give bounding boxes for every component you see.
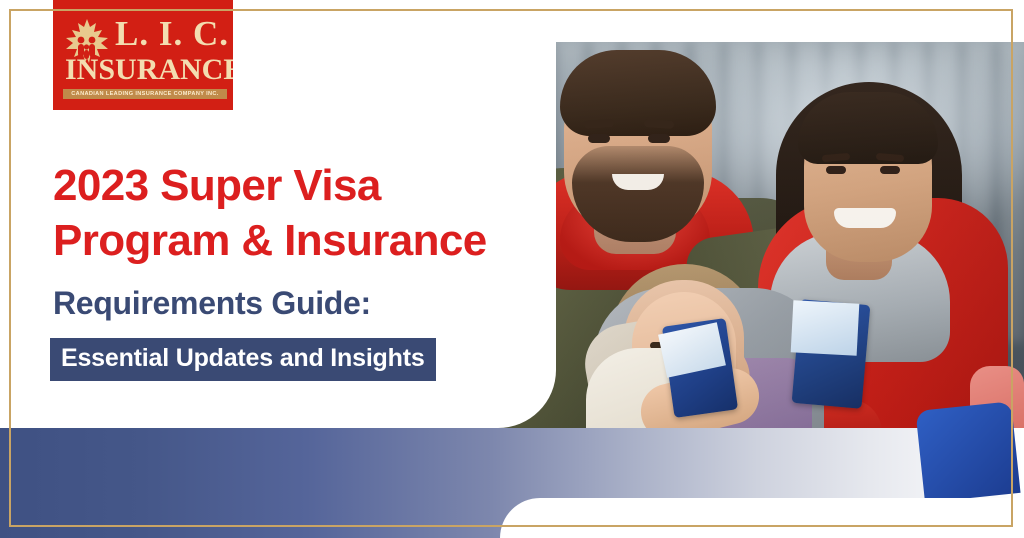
- super-visa-hero-banner: L. I. C. INSURANCE CANADIAN LEADING INSU…: [0, 0, 1024, 538]
- woman-eye-right: [880, 166, 900, 174]
- headline-line-2: Program & Insurance: [53, 213, 573, 268]
- logo-word: INSURANCE: [65, 55, 225, 85]
- subheadline: Requirements Guide:: [53, 285, 371, 322]
- lic-insurance-logo[interactable]: L. I. C. INSURANCE CANADIAN LEADING INSU…: [53, 0, 233, 110]
- man-eye-left: [588, 134, 610, 143]
- woman-smile: [834, 208, 896, 228]
- woman-eye-left: [826, 166, 846, 174]
- man-smile: [612, 174, 664, 190]
- headline: 2023 Super Visa Program & Insurance: [53, 158, 573, 269]
- woman-hair-top: [798, 92, 938, 164]
- logo-tagline: CANADIAN LEADING INSURANCE COMPANY INC.: [63, 89, 227, 99]
- blue-bag: [915, 401, 1020, 498]
- logo-initials: L. I. C.: [115, 16, 229, 51]
- bottom-white-strip: [500, 498, 1024, 538]
- man-eye-right: [648, 134, 670, 143]
- headline-line-1: 2023 Super Visa: [53, 158, 573, 213]
- boarding-pass-woman: [791, 300, 860, 355]
- highlight-banner: Essential Updates and Insights: [50, 338, 436, 381]
